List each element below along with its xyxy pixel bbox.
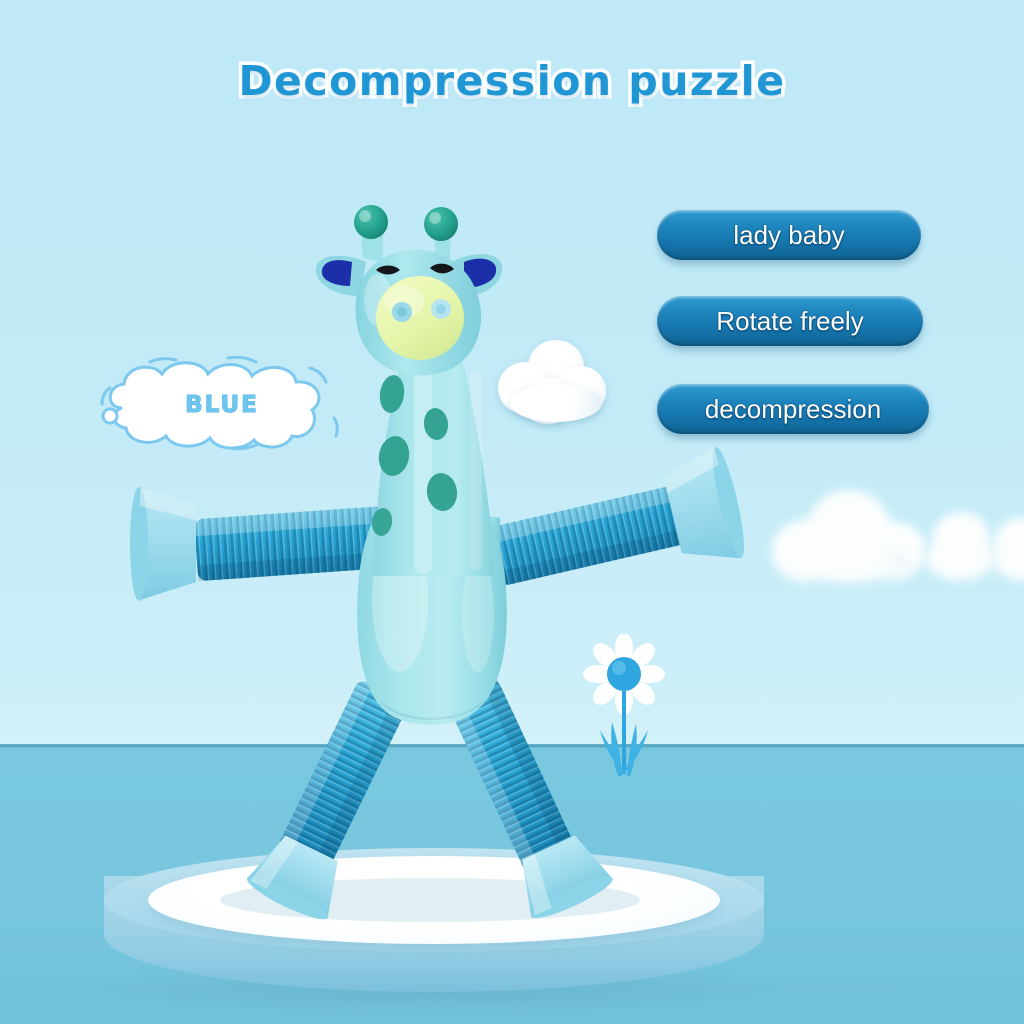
giraffe-horn-left	[354, 205, 388, 262]
giraffe-muzzle	[376, 276, 464, 360]
product-poster: Decompression puzzle lady baby Rotate fr…	[0, 0, 1024, 1024]
giraffe-toy	[0, 0, 1024, 1024]
toy-neck	[370, 346, 494, 576]
toy-head	[316, 205, 502, 375]
